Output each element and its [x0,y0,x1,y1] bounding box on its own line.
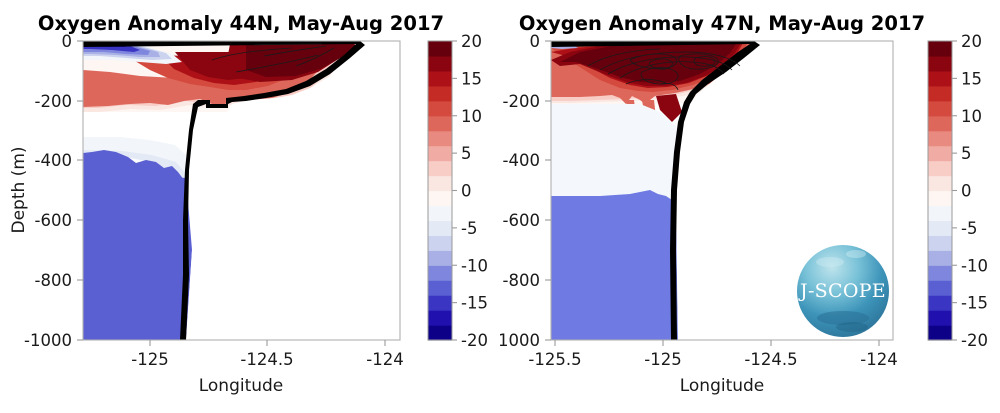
ytick-label: -400 [35,151,72,170]
colorbar-tick-label: -20 [461,331,488,350]
ytick-label: 0 [530,32,541,51]
colorbar-band [928,161,952,177]
panel-44n-xlabel: Longitude [199,376,284,396]
panel-oxygen-anomaly-47n: Oxygen Anomaly 47N, May-Aug 2017 [500,0,1000,413]
colorbar-band [928,250,952,266]
colorbar-band [928,235,952,251]
jscope-light-ray [816,257,844,267]
colorbar-tick-label: 5 [961,144,972,163]
colorbar-tick-label: -20 [961,331,988,350]
colorbar-band [428,101,452,117]
colorbar-tick-label: 15 [961,69,982,88]
xtick-label: -125 [644,350,681,369]
panel-47n-xlabel: Longitude [680,376,765,396]
panel-44n-field [83,41,400,340]
ytick-label: -1000 [24,331,72,350]
colorbar-band [428,131,452,147]
colorbar-tick-label: 20 [461,32,482,51]
xtick-label: -124 [366,350,403,369]
colorbar-tick-label: 10 [461,107,482,126]
colorbar-band [428,310,452,326]
colorbar-band [928,265,952,281]
xtick-label: -124.5 [744,350,797,369]
colorbar-band [928,295,952,311]
ytick-label: -1000 [500,331,540,350]
colorbar-tick-label: -15 [461,294,488,313]
jscope-logo-text: J-SCOPE [798,280,886,302]
ytick-label: -200 [503,92,540,111]
panel-44n-yaxis: 0 -200 -400 -600 -800 -1000 Depth (m) [9,32,83,350]
colorbar-tick-label: -10 [961,256,988,275]
jscope-logo: J-SCOPE [797,245,889,337]
colorbar-band [428,235,452,251]
colorbar-47n [928,41,952,341]
colorbar-band [428,280,452,296]
colorbar-band [428,86,452,102]
colorbar-band [928,325,952,341]
panel-44n-title: Oxygen Anomaly 44N, May-Aug 2017 [38,12,444,35]
xtick-label: -124.5 [240,350,293,369]
colorbar-tick-label: 0 [961,182,972,201]
panel-47n-title: Oxygen Anomaly 47N, May-Aug 2017 [519,12,925,35]
colorbar-tick-label: -10 [461,256,488,275]
colorbar-band [928,220,952,236]
xtick-label: -125 [131,350,168,369]
colorbar-band [428,56,452,72]
panel-44n-svg: Oxygen Anomaly 44N, May-Aug 2017 [0,0,500,413]
colorbar-tick-label: 15 [461,69,482,88]
colorbar-44n [428,41,452,341]
colorbar-tick-label: 20 [961,32,982,51]
colorbar-tick-label: -5 [961,219,977,238]
ytick-label: -200 [35,92,72,111]
figure-root: Oxygen Anomaly 44N, May-Aug 2017 [0,0,1000,413]
colorbar-band [928,176,952,192]
colorbar-band [428,161,452,177]
colorbar-tick-label: -15 [961,294,988,313]
colorbar-band [428,41,452,57]
colorbar-band [928,310,952,326]
colorbar-band [928,71,952,87]
colorbar-band [928,205,952,221]
colorbar-tick-label: 0 [461,182,472,201]
colorbar-band [928,86,952,102]
colorbar-tick-label: 10 [961,107,982,126]
colorbar-band [928,280,952,296]
panel-oxygen-anomaly-44n: Oxygen Anomaly 44N, May-Aug 2017 [0,0,500,413]
colorbar-band [428,295,452,311]
ytick-label: -600 [503,211,540,230]
ytick-label: -600 [35,211,72,230]
panel-44n-xaxis: -125 -124.5 -124 Longitude [131,340,403,396]
ytick-label: -800 [35,271,72,290]
colorbar-band [928,191,952,207]
xtick-label: -124 [860,350,897,369]
field-deep-band-neg8to6 [551,190,678,340]
ytick-label: -400 [503,151,540,170]
colorbar-44n-ticks: 20151050-5-10-15-20 [452,32,488,350]
colorbar-band [928,41,952,57]
xtick-label: -125.5 [528,350,581,369]
colorbar-band [428,116,452,132]
colorbar-band [428,325,452,341]
colorbar-band [928,116,952,132]
jscope-light-ray [846,250,866,258]
colorbar-band [428,205,452,221]
colorbar-band [428,176,452,192]
colorbar-band [928,131,952,147]
colorbar-band [428,191,452,207]
colorbar-47n-ticks: 20151050-5-10-15-20 [952,32,988,350]
panel-44n-ylabel: Depth (m) [9,146,29,233]
panel-47n-yaxis: 0 -200 -400 -600 -800 -1000 Depth (m) [500,32,551,350]
jscope-seabed [836,322,868,332]
colorbar-band [928,101,952,117]
colorbar-band [428,265,452,281]
field-deep-slab [83,170,192,340]
colorbar-band [428,146,452,162]
colorbar-band [428,71,452,87]
colorbar-tick-label: 5 [461,144,472,163]
colorbar-band [428,220,452,236]
ytick-label: -800 [503,271,540,290]
colorbar-tick-label: -5 [461,219,477,238]
ytick-label: 0 [62,32,73,51]
colorbar-band [928,146,952,162]
panel-47n-svg: Oxygen Anomaly 47N, May-Aug 2017 [500,0,1000,413]
colorbar-band [928,56,952,72]
panel-47n-xaxis: -125.5 -125 -124.5 -124 Longitude [528,340,897,396]
colorbar-band [428,250,452,266]
